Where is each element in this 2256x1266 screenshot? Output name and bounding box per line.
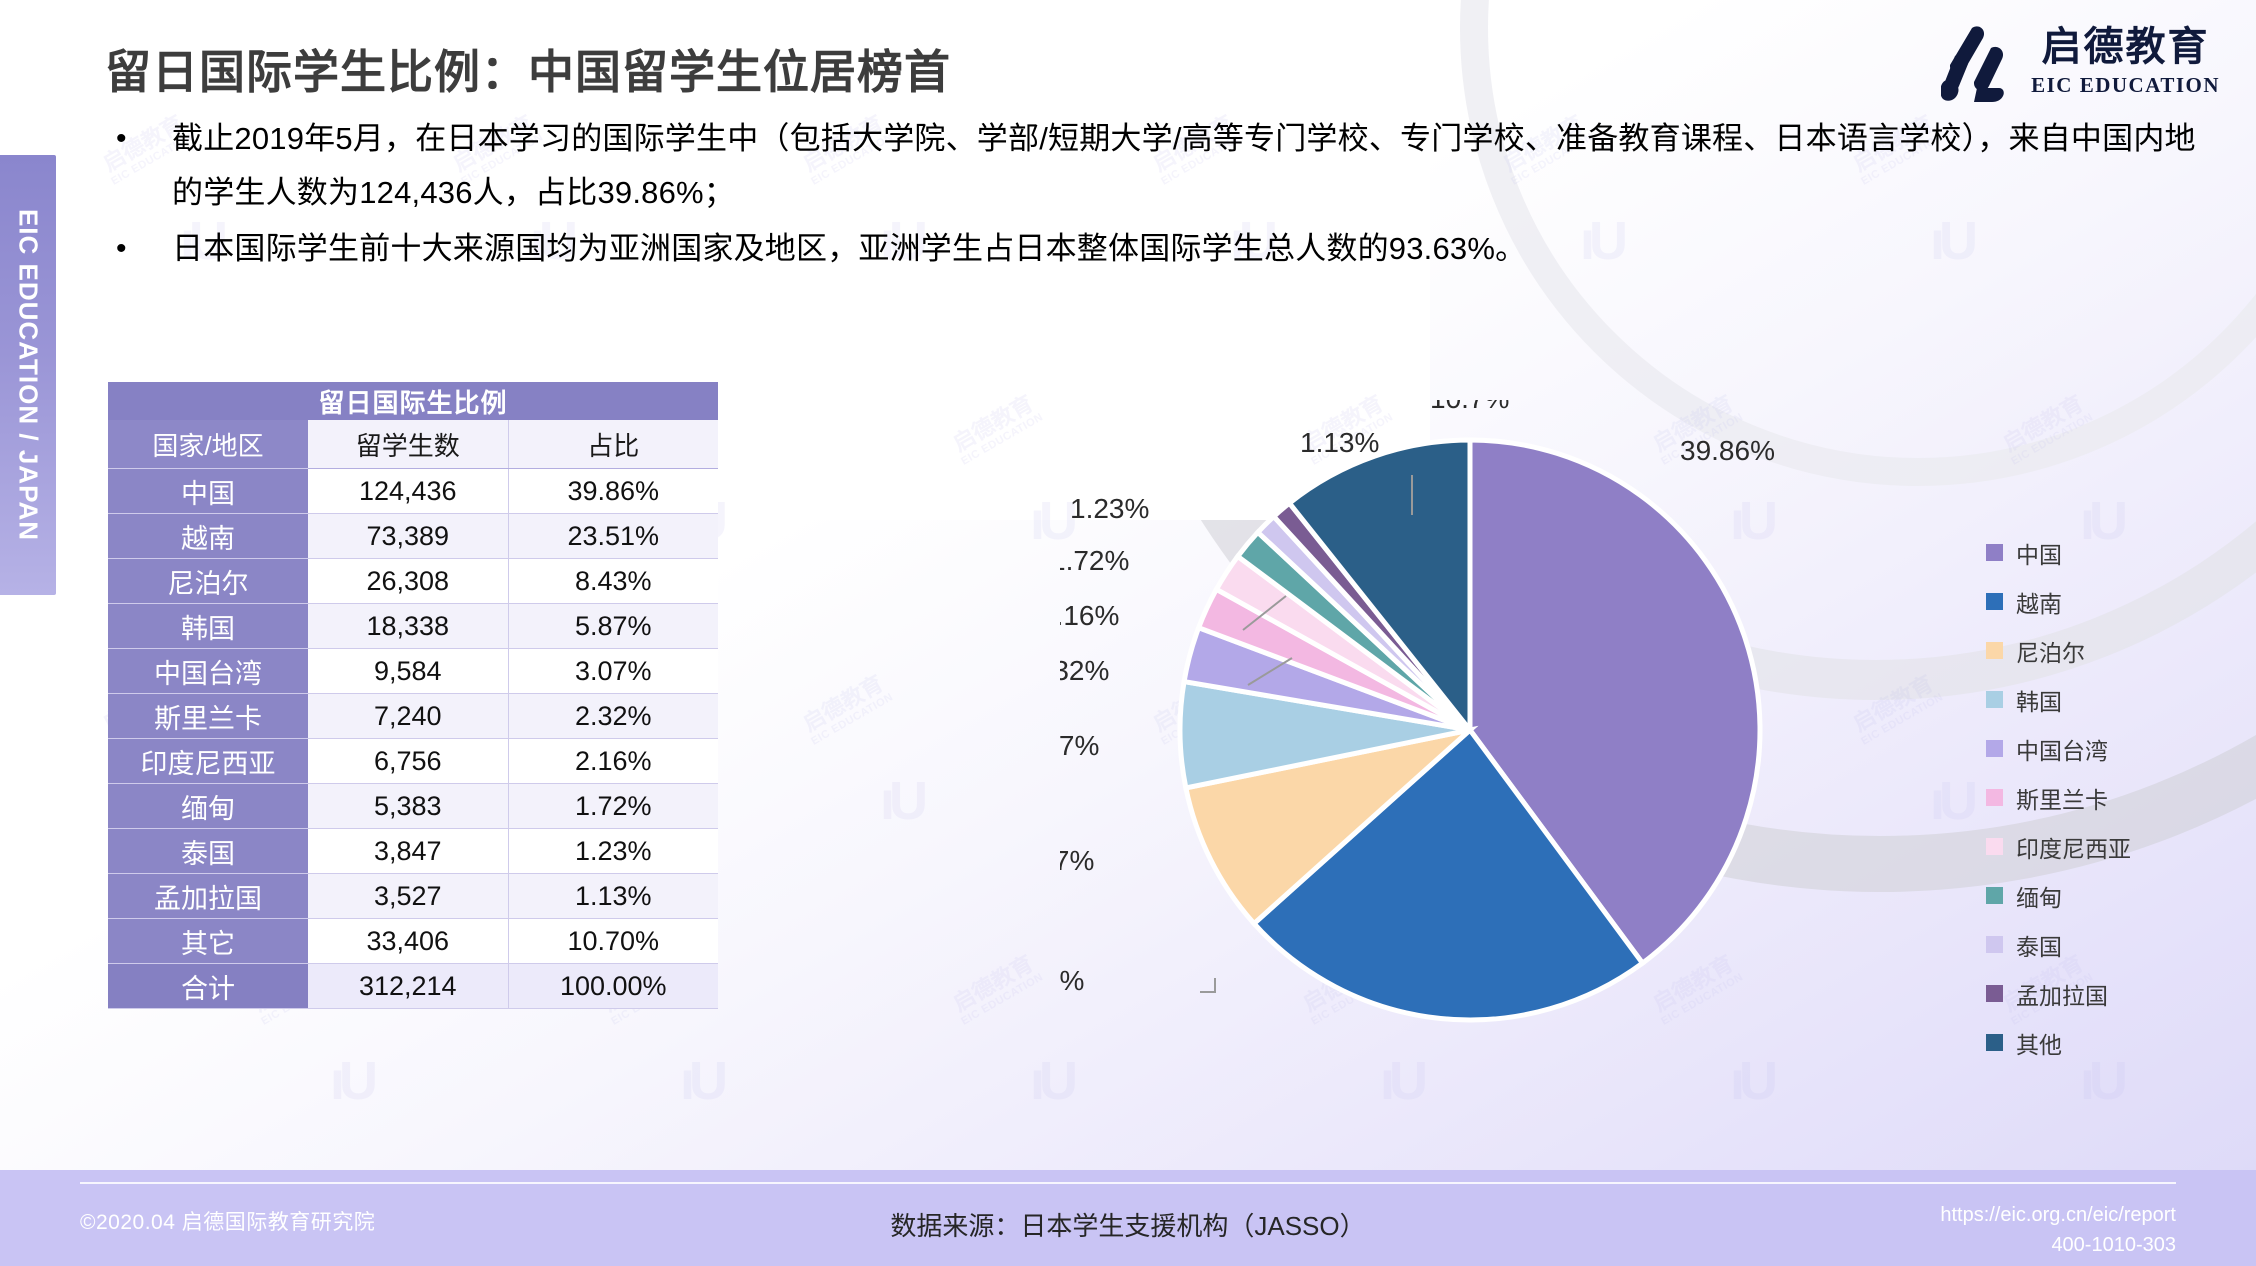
table-caption: 留日国际生比例 — [108, 382, 718, 420]
cell-count: 3,527 — [308, 874, 508, 919]
table-row: 中国台湾9,5843.07% — [108, 649, 718, 694]
cell-count: 6,756 — [308, 739, 508, 784]
legend-item[interactable]: 印度尼西亚 — [1986, 822, 2216, 871]
footer-contact: https://eic.org.cn/eic/report 400-1010-3… — [1940, 1200, 2176, 1260]
column-header-country: 国家/地区 — [108, 420, 308, 469]
pie-slice-label: 2.16% — [1060, 600, 1119, 631]
table-row: 孟加拉国3,5271.13% — [108, 874, 718, 919]
chart-legend: 中国越南尼泊尔韩国中国台湾斯里兰卡印度尼西亚缅甸泰国孟加拉国其他 — [1986, 528, 2216, 1067]
legend-swatch-icon — [1986, 985, 2003, 1002]
watermark-u-icon: ıU — [680, 1050, 722, 1112]
cell-country: 印度尼西亚 — [108, 739, 308, 784]
cell-count: 73,389 — [308, 514, 508, 559]
legend-item[interactable]: 越南 — [1986, 577, 2216, 626]
cell-share: 100.00% — [508, 964, 718, 1009]
logo-en-text: EIC EDUCATION — [2031, 73, 2220, 98]
cell-count: 312,214 — [308, 964, 508, 1009]
pie-slice-label: 10.7% — [1430, 400, 1509, 414]
cell-share: 5.87% — [508, 604, 718, 649]
cell-count: 3,847 — [308, 829, 508, 874]
cell-share: 23.51% — [508, 514, 718, 559]
cell-country: 合计 — [108, 964, 308, 1009]
cell-count: 9,584 — [308, 649, 508, 694]
legend-label: 尼泊尔 — [2016, 634, 2085, 668]
cell-country: 越南 — [108, 514, 308, 559]
table-caption-row: 留日国际生比例 — [108, 382, 718, 420]
legend-swatch-icon — [1986, 936, 2003, 953]
footer-phone: 400-1010-303 — [1940, 1230, 2176, 1260]
footer-source: 数据来源：日本学生支援机构（JASSO） — [0, 1206, 2256, 1243]
watermark-u-icon: ıU — [330, 1050, 372, 1112]
table-row: 泰国3,8471.23% — [108, 829, 718, 874]
column-header-count: 留学生数 — [308, 420, 508, 469]
bullet-text: 日本国际学生前十大来源国均为亚洲国家及地区，亚洲学生占日本整体国际学生总人数的9… — [172, 222, 1526, 276]
cell-count: 7,240 — [308, 694, 508, 739]
pie-slice-label: 8.43% — [1060, 965, 1084, 996]
watermark-text: 启德教育EIC EDUCATION — [947, 949, 1046, 1028]
list-item: • 日本国际学生前十大来源国均为亚洲国家及地区，亚洲学生占日本整体国际学生总人数… — [110, 222, 2200, 276]
table-row: 越南73,38923.51% — [108, 514, 718, 559]
cell-country: 韩国 — [108, 604, 308, 649]
pie-leader-line — [1200, 978, 1215, 992]
legend-item[interactable]: 斯里兰卡 — [1986, 773, 2216, 822]
cell-share: 10.70% — [508, 919, 718, 964]
cell-share: 1.23% — [508, 829, 718, 874]
bullet-marker: • — [110, 112, 172, 166]
legend-item[interactable]: 尼泊尔 — [1986, 626, 2216, 675]
pie-slice-label: 2.32% — [1060, 655, 1109, 686]
logo-cn-text: 启德教育 — [2042, 27, 2210, 67]
cell-count: 124,436 — [308, 469, 508, 514]
cell-country: 尼泊尔 — [108, 559, 308, 604]
cell-share: 1.13% — [508, 874, 718, 919]
legend-swatch-icon — [1986, 1034, 2003, 1051]
table-row: 其它33,40610.70% — [108, 919, 718, 964]
cell-share: 2.32% — [508, 694, 718, 739]
bullet-text: 截止2019年5月，在日本学习的国际学生中（包括大学院、学部/短期大学/高等专门… — [172, 112, 2200, 220]
cell-count: 33,406 — [308, 919, 508, 964]
legend-label: 韩国 — [2016, 683, 2062, 717]
legend-item[interactable]: 孟加拉国 — [1986, 969, 2216, 1018]
cell-country: 斯里兰卡 — [108, 694, 308, 739]
legend-swatch-icon — [1986, 593, 2003, 610]
slide-canvas: ıU启德教育EIC EDUCATIONıU启德教育EIC EDUCATIONıU… — [0, 0, 2256, 1266]
legend-item[interactable]: 中国台湾 — [1986, 724, 2216, 773]
eic-logo-mark-icon — [1941, 22, 2015, 102]
brand-logo: 启德教育 EIC EDUCATION — [1941, 22, 2220, 102]
legend-label: 缅甸 — [2016, 879, 2062, 913]
legend-label: 泰国 — [2016, 928, 2062, 962]
legend-swatch-icon — [1986, 838, 2003, 855]
legend-swatch-icon — [1986, 887, 2003, 904]
cell-count: 26,308 — [308, 559, 508, 604]
legend-swatch-icon — [1986, 691, 2003, 708]
legend-item[interactable]: 中国 — [1986, 528, 2216, 577]
watermark-text: 启德教育EIC EDUCATION — [797, 669, 896, 748]
legend-swatch-icon — [1986, 544, 2003, 561]
cell-share: 2.16% — [508, 739, 718, 784]
table-row: 尼泊尔26,3088.43% — [108, 559, 718, 604]
cell-country: 中国台湾 — [108, 649, 308, 694]
cell-count: 18,338 — [308, 604, 508, 649]
legend-label: 斯里兰卡 — [2016, 781, 2108, 815]
cell-share: 1.72% — [508, 784, 718, 829]
table-row: 印度尼西亚6,7562.16% — [108, 739, 718, 784]
cell-count: 5,383 — [308, 784, 508, 829]
footer-bar: ©2020.04 启德国际教育研究院 数据来源：日本学生支援机构（JASSO） … — [0, 1170, 2256, 1266]
legend-item[interactable]: 韩国 — [1986, 675, 2216, 724]
legend-label: 孟加拉国 — [2016, 977, 2108, 1011]
cell-share: 3.07% — [508, 649, 718, 694]
cell-share: 39.86% — [508, 469, 718, 514]
column-header-share: 占比 — [508, 420, 718, 469]
cell-country: 中国 — [108, 469, 308, 514]
footer-url[interactable]: https://eic.org.cn/eic/report — [1940, 1200, 2176, 1230]
cell-country: 其它 — [108, 919, 308, 964]
legend-item[interactable]: 泰国 — [1986, 920, 2216, 969]
data-table: 留日国际生比例 国家/地区 留学生数 占比 中国124,43639.86%越南7… — [108, 382, 718, 1009]
page-title: 留日国际学生比例：中国留学生位居榜首 — [105, 36, 951, 102]
legend-item[interactable]: 其他 — [1986, 1018, 2216, 1067]
side-tab-label: EIC EDUCATION / JAPAN — [13, 209, 44, 541]
watermark-u-icon: ıU — [880, 770, 922, 832]
bullet-list: • 截止2019年5月，在日本学习的国际学生中（包括大学院、学部/短期大学/高等… — [110, 112, 2200, 278]
list-item: • 截止2019年5月，在日本学习的国际学生中（包括大学院、学部/短期大学/高等… — [110, 112, 2200, 220]
footer-divider — [80, 1182, 2176, 1184]
legend-swatch-icon — [1986, 740, 2003, 757]
table-row: 缅甸5,3831.72% — [108, 784, 718, 829]
legend-label: 中国 — [2016, 536, 2062, 570]
bullet-marker: • — [110, 222, 172, 276]
legend-item[interactable]: 缅甸 — [1986, 871, 2216, 920]
cell-share: 8.43% — [508, 559, 718, 604]
legend-label: 越南 — [2016, 585, 2062, 619]
cell-country: 泰国 — [108, 829, 308, 874]
pie-slice-label: 1.13% — [1300, 427, 1379, 458]
side-tab-japan: EIC EDUCATION / JAPAN — [0, 155, 56, 595]
legend-label: 其他 — [2016, 1026, 2062, 1060]
table-row: 合计312,214100.00% — [108, 964, 718, 1009]
table-row: 韩国18,3385.87% — [108, 604, 718, 649]
cell-country: 缅甸 — [108, 784, 308, 829]
table-row: 中国124,43639.86% — [108, 469, 718, 514]
pie-slice-label: 3.07% — [1060, 730, 1099, 761]
legend-swatch-icon — [1986, 642, 2003, 659]
pie-slice-label: 5.87% — [1060, 845, 1094, 876]
pie-slice-label: 1.72% — [1060, 545, 1129, 576]
legend-label: 印度尼西亚 — [2016, 830, 2131, 864]
table-header-row: 国家/地区 留学生数 占比 — [108, 420, 718, 469]
data-table-wrapper: 留日国际生比例 国家/地区 留学生数 占比 中国124,43639.86%越南7… — [108, 382, 718, 1009]
legend-label: 中国台湾 — [2016, 732, 2108, 766]
cell-country: 孟加拉国 — [108, 874, 308, 919]
legend-swatch-icon — [1986, 789, 2003, 806]
pie-slice-label: 1.23% — [1070, 493, 1149, 524]
pie-slice-label: 39.86% — [1680, 435, 1775, 466]
table-row: 斯里兰卡7,2402.32% — [108, 694, 718, 739]
